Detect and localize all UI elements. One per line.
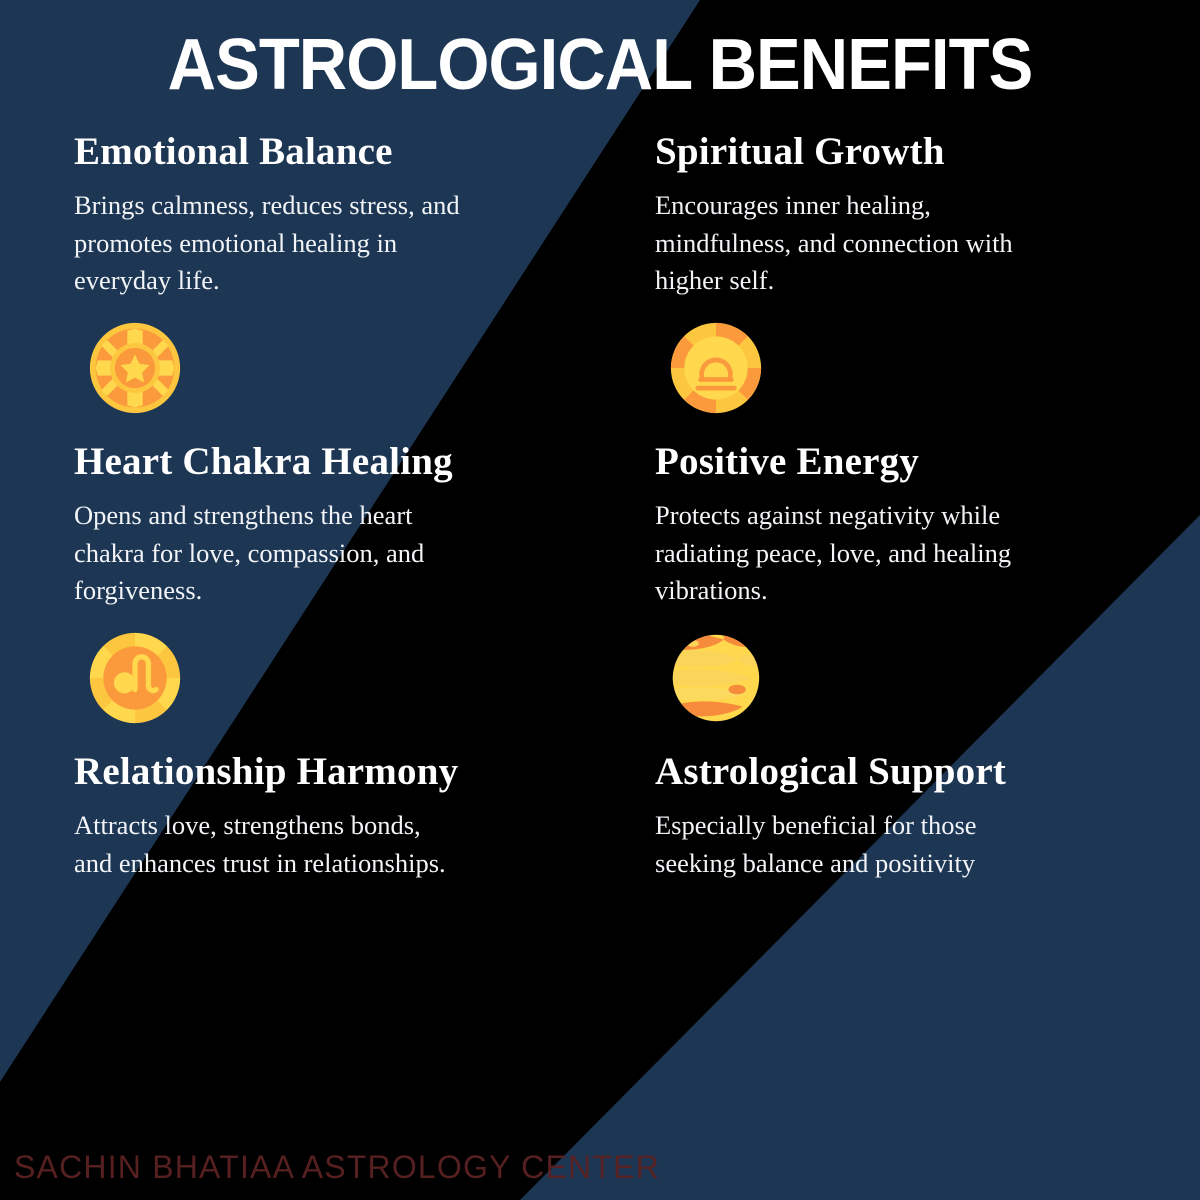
benefit-description-line: Protects against negativity while xyxy=(655,497,1160,535)
benefit-description: Attracts love, strengthens bonds, and en… xyxy=(74,807,579,882)
benefits-grid: Emotional Balance Brings calmness, reduc… xyxy=(0,132,1200,1062)
benefit-description-line: radiating peace, love, and healing xyxy=(655,535,1160,573)
benefit-description-line: Encourages inner healing, xyxy=(655,187,1160,225)
leo-coin-icon xyxy=(87,630,183,726)
benefit-description-line: everyday life. xyxy=(74,262,579,300)
benefit-description-line: vibrations. xyxy=(655,572,1160,610)
benefit-description-line: Especially beneficial for those xyxy=(655,807,1160,845)
page-title: ASTROLOGICAL BENEFITS xyxy=(42,26,1158,105)
benefit-description: Brings calmness, reduces stress, and pro… xyxy=(74,187,579,300)
benefit-description: Encourages inner healing, mindfulness, a… xyxy=(655,187,1160,300)
benefit-card-heart-chakra-healing: Heart Chakra Healing Opens and strengthe… xyxy=(0,442,610,752)
benefit-card-astrological-support: Astrological Support Especially benefici… xyxy=(610,752,1200,1062)
benefit-description-line: and enhances trust in relationships. xyxy=(74,845,579,883)
benefit-description: Especially beneficial for those seeking … xyxy=(655,807,1160,882)
jupiter-planet-icon xyxy=(668,630,764,726)
benefit-heading: Relationship Harmony xyxy=(74,752,582,793)
benefit-heading: Emotional Balance xyxy=(74,132,582,173)
watermark-text: SACHIN BHATIAA ASTROLOGY CENTER xyxy=(14,1149,660,1186)
benefit-description-line: promotes emotional healing in xyxy=(74,225,579,263)
poster-canvas: ASTROLOGICAL BENEFITS Emotional Balance … xyxy=(0,0,1200,1200)
benefit-description-line: chakra for love, compassion, and xyxy=(74,535,579,573)
benefit-description: Opens and strengthens the heart chakra f… xyxy=(74,497,579,610)
benefit-description-line: Opens and strengthens the heart xyxy=(74,497,579,535)
benefit-description-line: forgiveness. xyxy=(74,572,579,610)
benefit-description-line: Attracts love, strengthens bonds, xyxy=(74,807,579,845)
benefit-heading: Heart Chakra Healing xyxy=(74,442,582,483)
benefit-heading: Spiritual Growth xyxy=(655,132,1172,173)
libra-coin-icon xyxy=(668,320,764,416)
benefit-card-emotional-balance: Emotional Balance Brings calmness, reduc… xyxy=(0,132,610,442)
benefit-description-line: Brings calmness, reduces stress, and xyxy=(74,187,579,225)
benefit-heading: Astrological Support xyxy=(655,752,1172,793)
benefit-card-positive-energy: Positive Energy Protects against negativ… xyxy=(610,442,1200,752)
sun-medallion-icon xyxy=(87,320,183,416)
benefit-description-line: seeking balance and positivity xyxy=(655,845,1160,883)
benefit-description-line: mindfulness, and connection with xyxy=(655,225,1160,263)
benefit-description-line: higher self. xyxy=(655,262,1160,300)
benefit-card-relationship-harmony: Relationship Harmony Attracts love, stre… xyxy=(0,752,610,1062)
benefit-heading: Positive Energy xyxy=(655,442,1172,483)
benefit-card-spiritual-growth: Spiritual Growth Encourages inner healin… xyxy=(610,132,1200,442)
benefit-description: Protects against negativity while radiat… xyxy=(655,497,1160,610)
